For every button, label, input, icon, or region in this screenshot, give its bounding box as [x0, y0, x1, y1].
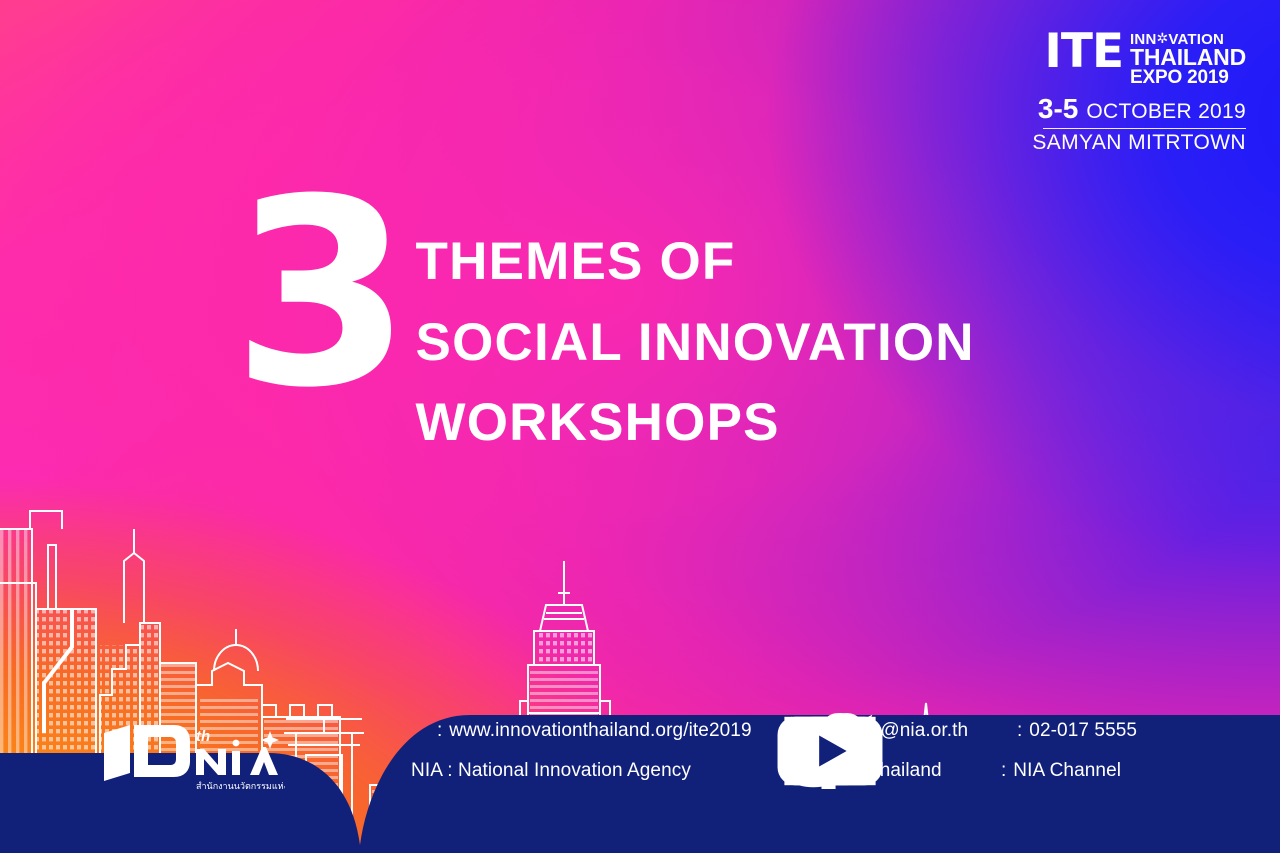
event-logo-text-stack: INN✲VATION THAILAND EXPO 2019 — [1130, 30, 1246, 87]
event-logo: ITE INN✲VATION THAILAND EXPO 2019 3-5 OC… — [1016, 30, 1246, 155]
event-date: 3-5 OCTOBER 2019 — [1016, 93, 1246, 125]
event-venue: SAMYAN MITRTOWN — [1016, 131, 1246, 155]
footer-contacts: : www.innovationthailand.org/ite2019 : — [430, 713, 1230, 789]
poster-canvas: ITE INN✲VATION THAILAND EXPO 2019 3-5 OC… — [0, 0, 1280, 853]
headline-number: 3 — [232, 196, 402, 392]
event-logo-top-row: ITE INN✲VATION THAILAND EXPO 2019 — [1016, 30, 1246, 87]
headline-line-1: THEMES OF — [416, 222, 975, 303]
event-date-month-year: OCTOBER 2019 — [1086, 100, 1246, 124]
svg-text:สำนักงานนวัตกรรมแห่งชาติ: สำนักงานนวัตกรรมแห่งชาติ — [196, 781, 285, 792]
footer-youtube[interactable]: : NIA Channel — [994, 760, 1121, 782]
footer-content: th สำนักงานนวัตกรรมแห่งชาติ — [0, 693, 1280, 853]
headline-lines: THEMES OF SOCIAL INNOVATION WORKSHOPS — [416, 196, 975, 464]
event-date-days: 3-5 — [1038, 93, 1078, 125]
star-icon: ✲ — [1156, 31, 1168, 45]
footer-bar: th สำนักงานนวัตกรรมแห่งชาติ — [0, 693, 1280, 853]
headline-line-3: WORKSHOPS — [416, 383, 975, 464]
nia-logo: th สำนักงานนวัตกรรมแห่งชาติ — [100, 721, 285, 793]
event-logo-divider — [1043, 128, 1246, 129]
event-logo-expo-line: EXPO 2019 — [1130, 68, 1229, 87]
svg-text:th: th — [196, 728, 210, 745]
headline-line-2: SOCIAL INNOVATION — [416, 303, 975, 384]
event-logo-thailand-line: THAILAND — [1130, 46, 1246, 69]
headline-block: 3 THEMES OF SOCIAL INNOVATION WORKSHOPS — [232, 196, 975, 464]
ite-wordmark: ITE — [1044, 30, 1123, 73]
footer-row-2: NIA : National Innovation Agency — [430, 753, 1230, 789]
